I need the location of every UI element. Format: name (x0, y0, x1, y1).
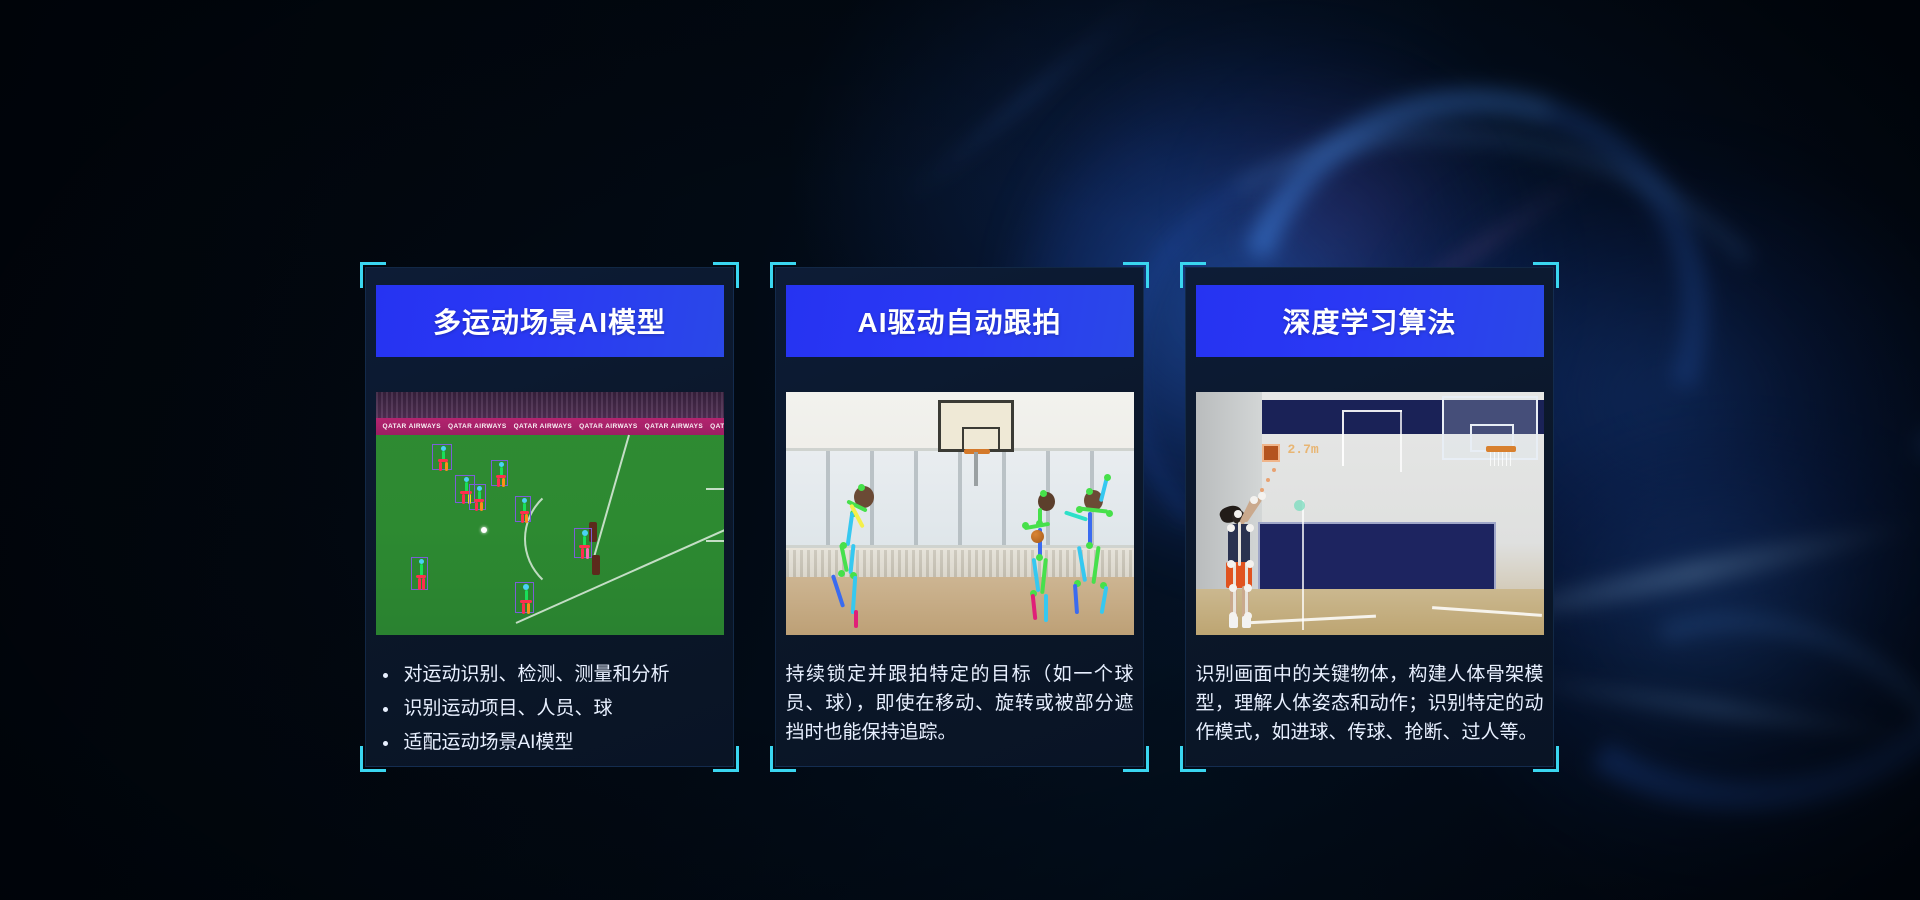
distance-label: 2.7m (1288, 442, 1319, 457)
stadium-ad-banner: QATAR AIRWAYS QATAR AIRWAYS QATAR AIRWAY… (376, 418, 724, 435)
basketball-pose-tracking-image (786, 392, 1134, 635)
feature-card-sports-ai-model[interactable]: 多运动场景AI模型 QATAR AIRWAYS QATAR AIRWAYS QA… (360, 262, 739, 772)
card-body: 深度学习算法 2.7 (1185, 267, 1554, 767)
soccer-detection-image: QATAR AIRWAYS QATAR AIRWAYS QATAR AIRWAY… (376, 392, 724, 635)
banner-text: QATAR AIRWAYS (507, 423, 573, 430)
banner-text: QATAR AIRWAYS (638, 423, 704, 430)
feature-bullet-list: 对运动识别、检测、测量和分析 识别运动项目、人员、球 适配运动场景AI模型 (376, 661, 724, 758)
banner-text: QATAR AIRWAYS (572, 423, 638, 430)
banner-text: QATAR AIRWAYS (376, 423, 442, 430)
feature-card-row: 多运动场景AI模型 QATAR AIRWAYS QATAR AIRWAYS QA… (360, 262, 1560, 772)
description-paragraph: 持续锁定并跟拍特定的目标（如一个球员、球），即使在移动、旋转或被部分遮挡时也能保… (786, 661, 1134, 748)
card-description: 持续锁定并跟拍特定的目标（如一个球员、球），即使在移动、旋转或被部分遮挡时也能保… (786, 661, 1134, 748)
card-body: AI驱动自动跟拍 (775, 267, 1144, 767)
feature-card-auto-tracking[interactable]: AI驱动自动跟拍 (770, 262, 1149, 772)
card-description: 对运动识别、检测、测量和分析 识别运动项目、人员、球 适配运动场景AI模型 (376, 661, 724, 763)
backboard (938, 400, 1014, 452)
card-title: 多运动场景AI模型 (433, 301, 666, 341)
list-item: 适配运动场景AI模型 (376, 729, 724, 758)
card-description: 识别画面中的关键物体，构建人体骨架模型，理解人体姿态和动作；识别特定的动作模式，… (1196, 661, 1544, 748)
banner-text: QATAR AIRWAYS (703, 423, 723, 430)
banner-text: QATAR AIRWAYS (441, 423, 507, 430)
player-skeleton (1216, 496, 1286, 630)
card-header-banner: 多运动场景AI模型 (376, 285, 724, 357)
pose-skeleton-right (1058, 476, 1130, 632)
card-title: AI驱动自动跟拍 (857, 301, 1061, 341)
basketball-shot-analysis-image: 2.7m (1196, 392, 1544, 635)
card-body: 多运动场景AI模型 QATAR AIRWAYS QATAR AIRWAYS QA… (365, 267, 734, 767)
pose-skeleton-left (834, 484, 904, 634)
key-point-marker (1294, 500, 1305, 511)
soccer-ball (481, 527, 487, 533)
list-item: 识别运动项目、人员、球 (376, 695, 724, 724)
card-header-banner: 深度学习算法 (1196, 285, 1544, 357)
description-paragraph: 识别画面中的关键物体，构建人体骨架模型，理解人体姿态和动作；识别特定的动作模式，… (1196, 661, 1544, 748)
basketball (1031, 530, 1044, 543)
list-item: 对运动识别、检测、测量和分析 (376, 661, 724, 690)
card-title: 深度学习算法 (1282, 301, 1456, 341)
ball-tracking-box (1262, 444, 1280, 462)
feature-card-deep-learning[interactable]: 深度学习算法 2.7 (1180, 262, 1559, 772)
card-header-banner: AI驱动自动跟拍 (786, 285, 1134, 357)
